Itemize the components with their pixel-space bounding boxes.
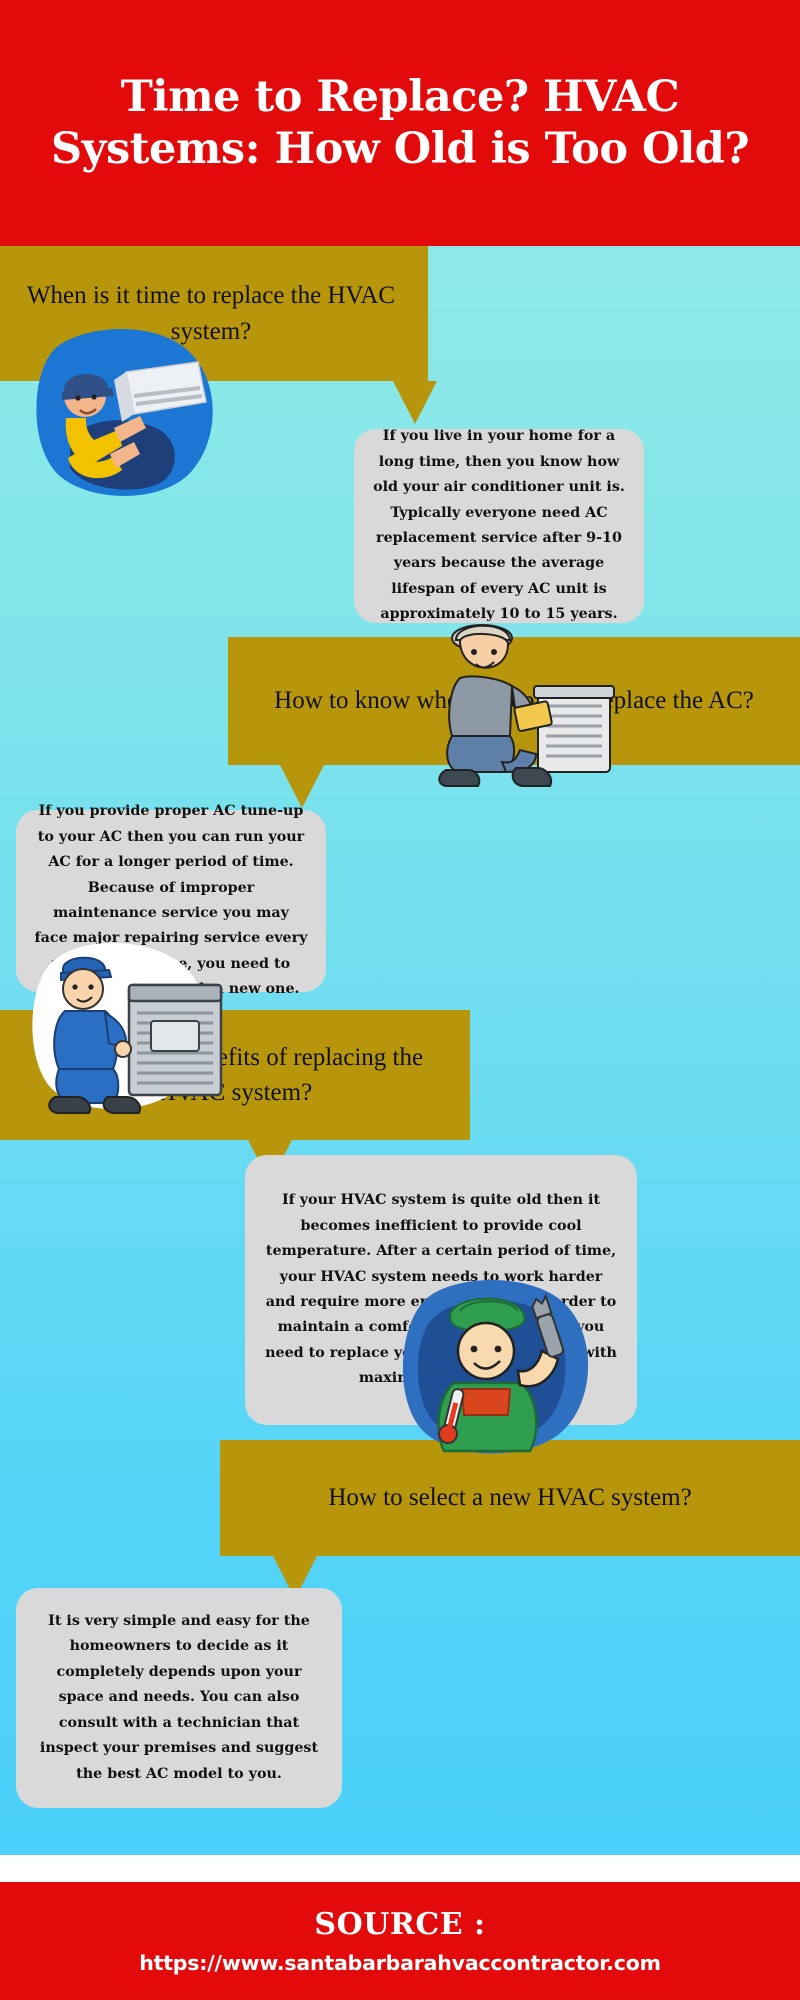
source-label: SOURCE : bbox=[314, 1907, 485, 1942]
question-label-4: How to select a new HVAC system? bbox=[312, 1480, 707, 1516]
header-banner: Time to Replace? HVAC Systems: How Old i… bbox=[0, 0, 800, 246]
infographic-page: Time to Replace? HVAC Systems: How Old i… bbox=[0, 0, 800, 2000]
source-footer: SOURCE : https://www.santabarbarahvaccon… bbox=[0, 1882, 800, 2000]
page-title: Time to Replace? HVAC Systems: How Old i… bbox=[50, 71, 750, 176]
technician-with-wrench-and-thermometer-illustration bbox=[390, 1265, 605, 1465]
technician-installing-ac-unit-illustration bbox=[30, 318, 230, 503]
answer-text-4: It is very simple and easy for the homeo… bbox=[16, 1595, 342, 1801]
source-url[interactable]: https://www.santabarbarahvaccontractor.c… bbox=[139, 1951, 661, 1975]
answer-text-1: If you live in your home for a long time… bbox=[354, 410, 644, 642]
answer-bubble-4: It is very simple and easy for the homeo… bbox=[16, 1588, 342, 1808]
technician-beside-condenser-illustration bbox=[25, 925, 245, 1120]
technician-kneeling-with-clipboard-illustration bbox=[420, 612, 620, 797]
answer-bubble-1: If you live in your home for a long time… bbox=[354, 429, 644, 623]
